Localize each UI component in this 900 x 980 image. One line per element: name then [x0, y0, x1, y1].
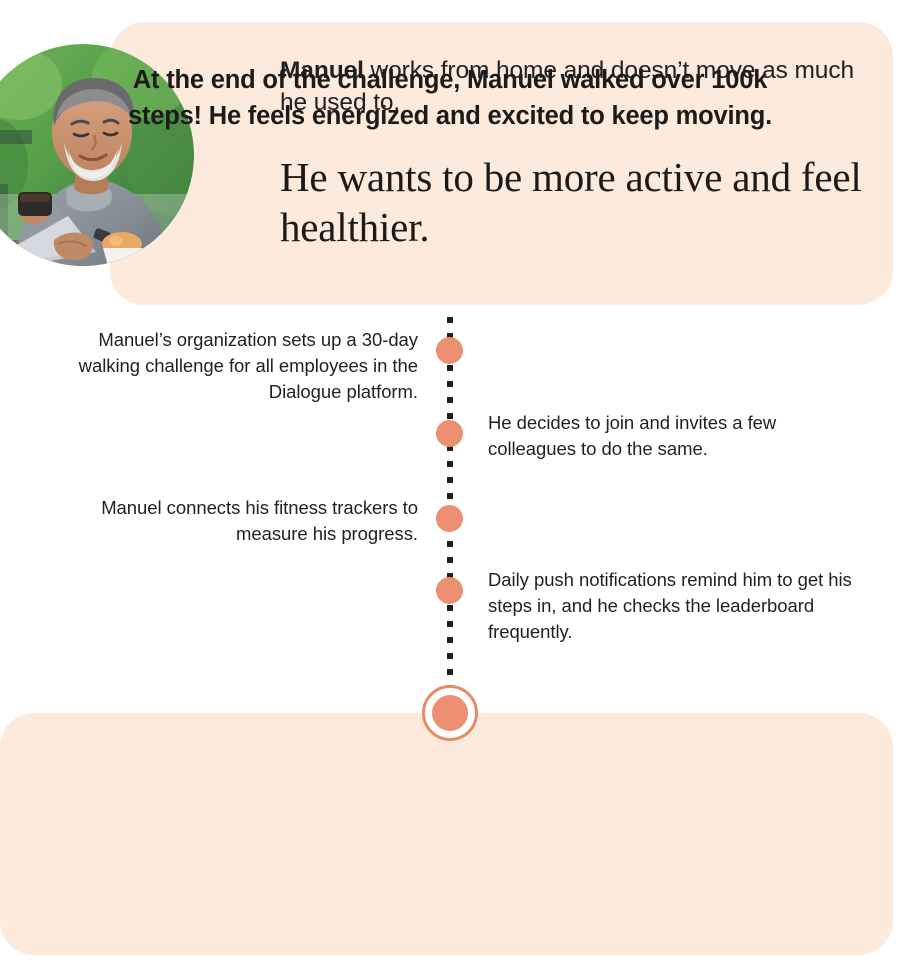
- timeline-dot-3: [436, 505, 463, 532]
- conclusion-text: At the end of the challenge, Manuel walk…: [100, 62, 800, 134]
- hero-headline: He wants to be more active and feel heal…: [280, 120, 870, 254]
- timeline-step-3: Manuel connects his fitness trackers to …: [58, 495, 418, 547]
- timeline: Manuel’s organization sets up a 30-day w…: [0, 305, 900, 745]
- infographic-root: Manuel works from home and doesn’t move …: [0, 0, 900, 980]
- timeline-dot-1: [436, 337, 463, 364]
- timeline-step-1: Manuel’s organization sets up a 30-day w…: [58, 327, 418, 405]
- timeline-dot-2: [436, 420, 463, 447]
- timeline-final-marker-core: [432, 695, 468, 731]
- timeline-dot-4: [436, 577, 463, 604]
- timeline-step-4: Daily push notifications remind him to g…: [488, 567, 858, 645]
- timeline-final-marker: [422, 685, 478, 741]
- timeline-step-2: He decides to join and invites a few col…: [488, 410, 858, 462]
- conclusion-card: [0, 713, 893, 955]
